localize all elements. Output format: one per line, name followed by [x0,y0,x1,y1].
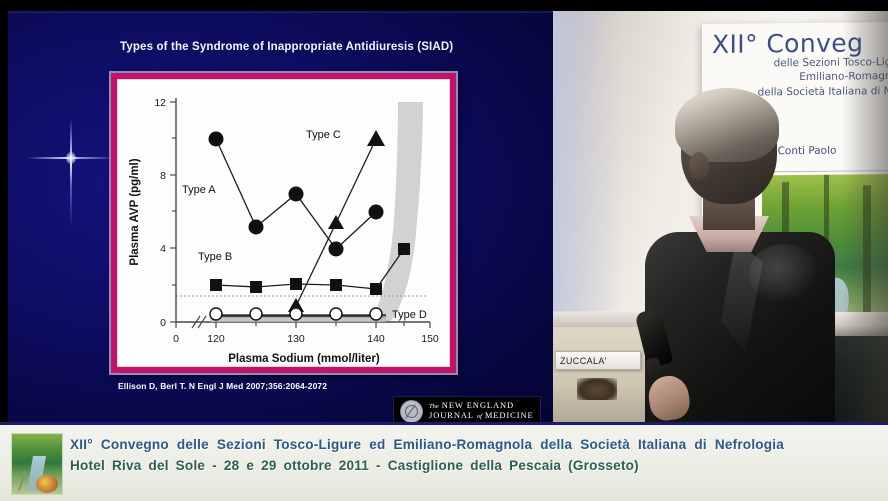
wall-glow [553,11,623,311]
nejm-seal-icon [400,400,423,423]
nejm-logo: The NEW ENGLAND JOURNAL of MEDICINE [393,396,541,422]
speaker-hair [675,88,779,162]
nejm-line2b: of [477,413,482,420]
annotation-type-a: Type A [182,184,216,196]
sparkle-decoration-icon [26,119,116,227]
annotation-type-c: Type C [306,129,341,141]
type-b-markers [210,243,410,295]
video-frame: Types of the Syndrome of Inappropriate A… [0,0,888,498]
speaker-shoulder-highlight [749,244,819,304]
letterbox-top [0,0,888,11]
type-a-markers [209,132,384,257]
nameplate: ZUCCALA' [555,351,641,370]
speaker-photo: XII° Conveg delle Sezioni Tosco-Ligu Emi… [553,11,888,422]
speaker-figure [645,92,835,422]
x-tick-labels: 0 120 130 140 150 [173,333,439,345]
annotation-type-d: Type D [392,309,427,321]
wall-shadow [842,11,888,422]
svg-text:120: 120 [207,333,225,345]
nejm-line2c: MEDICINE [485,410,534,420]
siad-chart: 12 8 4 0 [118,80,449,366]
nameplate-text: ZUCCALA' [560,356,607,366]
y-ticks [170,102,176,322]
chart-canvas: 12 8 4 0 [117,79,450,367]
podium-emblem-icon [577,378,617,400]
y-tick-labels: 12 8 4 0 [154,97,166,329]
svg-text:0: 0 [173,333,179,345]
event-logo-icon [11,433,63,495]
chart-svg: 12 8 4 0 [118,80,449,366]
nejm-line1: NEW ENGLAND [442,400,514,410]
svg-text:8: 8 [160,170,166,182]
speaker-ear [689,152,709,180]
svg-text:0: 0 [160,317,166,329]
chart-frame: 12 8 4 0 [111,73,456,373]
x-axis-title: Plasma Sodium (mmol/liter) [228,353,380,365]
svg-text:4: 4 [160,243,166,255]
citation-text: Ellison D, Berl T. N Engl J Med 2007;356… [118,381,327,391]
projected-slide: Types of the Syndrome of Inappropriate A… [8,11,553,422]
caption-line-2: Hotel Riva del Sole - 28 e 29 ottobre 20… [70,455,876,476]
svg-text:140: 140 [367,333,385,345]
caption-text: XII° Convegno delle Sezioni Tosco-Ligure… [70,434,876,476]
caption-line-1: XII° Convegno delle Sezioni Tosco-Ligure… [70,434,876,455]
svg-text:130: 130 [287,333,305,345]
slide-title: Types of the Syndrome of Inappropriate A… [120,41,540,53]
caption-band: XII° Convegno delle Sezioni Tosco-Ligure… [0,422,888,501]
svg-text:12: 12 [154,97,166,109]
svg-text:150: 150 [421,333,439,345]
annotation-type-b: Type B [198,251,232,263]
x-ticks [176,322,430,328]
y-axis-title: Plasma AVP (pg/ml) [129,158,141,265]
nejm-line2a: JOURNAL [429,410,474,420]
